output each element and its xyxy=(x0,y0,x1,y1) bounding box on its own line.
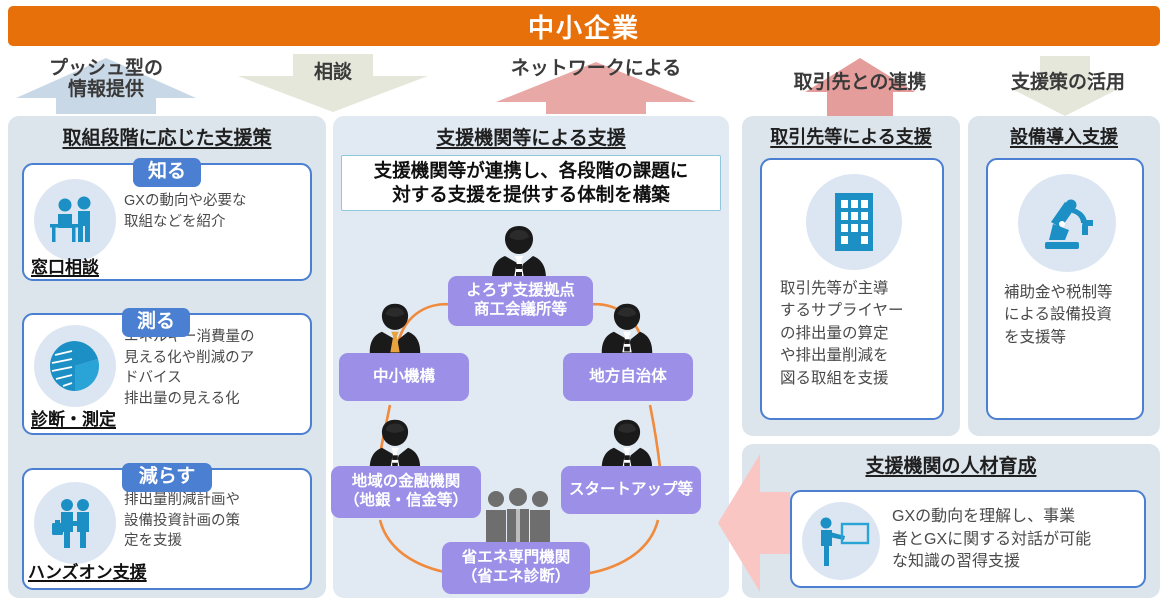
person-icon xyxy=(366,300,424,358)
network-support-label: ネットワークによる xyxy=(488,58,704,79)
push-info-label: プッシュ型の 情報提供 xyxy=(16,58,196,101)
badge-herasu: 減らす xyxy=(122,463,212,492)
badge-shiru: 知る xyxy=(133,158,201,187)
node-yorozu[interactable]: よろず支援拠点 商工会議所等 xyxy=(448,276,593,326)
feedback-left-arrow-icon xyxy=(718,448,790,598)
partner-cooperation-label: 取引先との連携 xyxy=(752,72,968,93)
node-shoene[interactable]: 省エネ専門機関 （省エネ診断） xyxy=(442,542,590,594)
consult-label: 相談 xyxy=(238,62,428,83)
node-chihoujichitai[interactable]: 地方自治体 xyxy=(563,353,693,401)
person-icon xyxy=(488,222,550,284)
node-chushokiko[interactable]: 中小機構 xyxy=(339,353,469,401)
node-startup[interactable]: スタートアップ等 xyxy=(561,466,701,514)
person-icon xyxy=(598,300,656,358)
group-people-icon xyxy=(482,488,554,546)
node-chiiki-kinyu[interactable]: 地域の金融機関 （地銀・信金等） xyxy=(331,466,481,518)
use-support-measures-label: 支援策の活用 xyxy=(972,72,1164,93)
badge-hakaru: 測る xyxy=(122,308,190,337)
